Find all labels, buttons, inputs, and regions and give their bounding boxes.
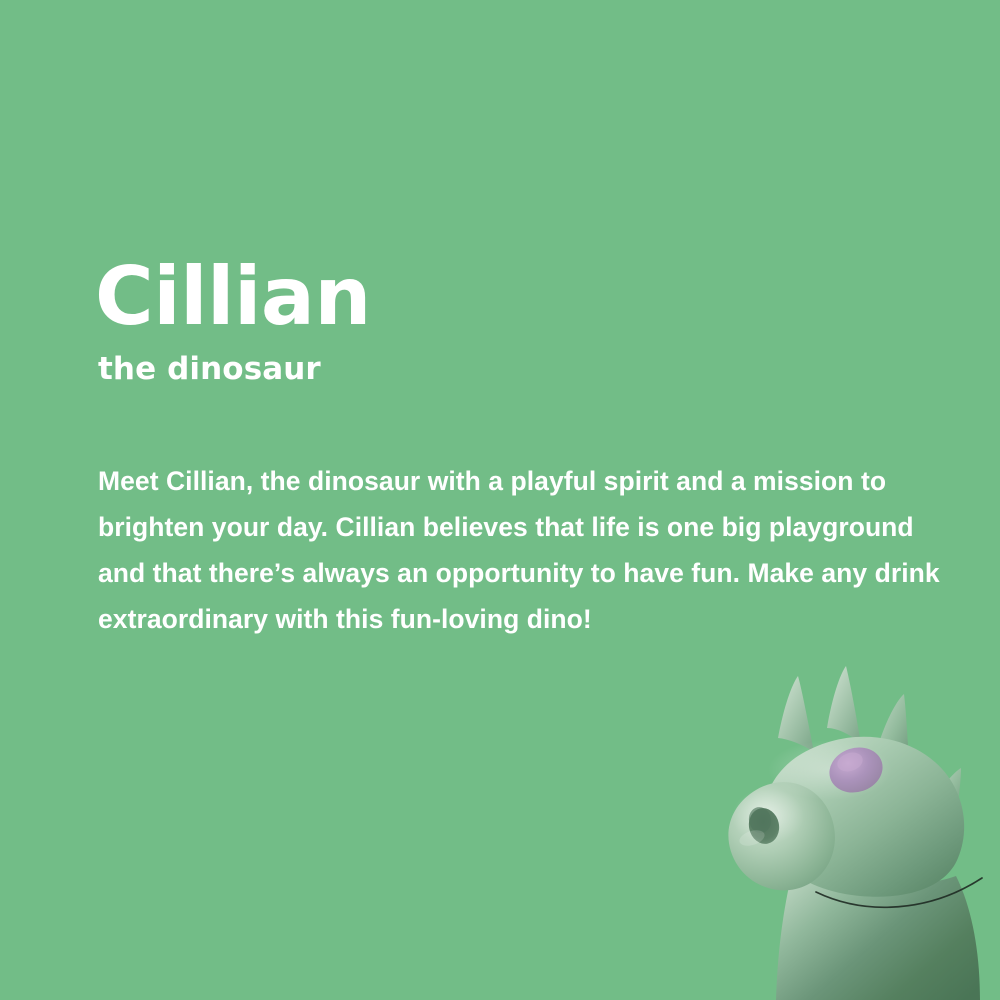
dinosaur-spikes	[778, 666, 961, 826]
character-description: Meet Cillian, the dinosaur with a playfu…	[98, 458, 960, 642]
cillian-dinosaur-illustration	[680, 640, 1000, 1000]
dinosaur-nostril	[737, 805, 782, 849]
character-name-title: Cillian	[95, 258, 975, 336]
dinosaur-seam-line	[816, 878, 982, 907]
dinosaur-eye	[824, 741, 889, 800]
dinosaur-neck	[776, 872, 980, 1000]
character-text-block: Cillian the dinosaur Meet Cillian, the d…	[95, 258, 975, 642]
character-subtitle: the dinosaur	[98, 352, 975, 386]
character-profile-card: Cillian the dinosaur Meet Cillian, the d…	[0, 0, 1000, 1000]
dinosaur-head	[728, 737, 964, 897]
